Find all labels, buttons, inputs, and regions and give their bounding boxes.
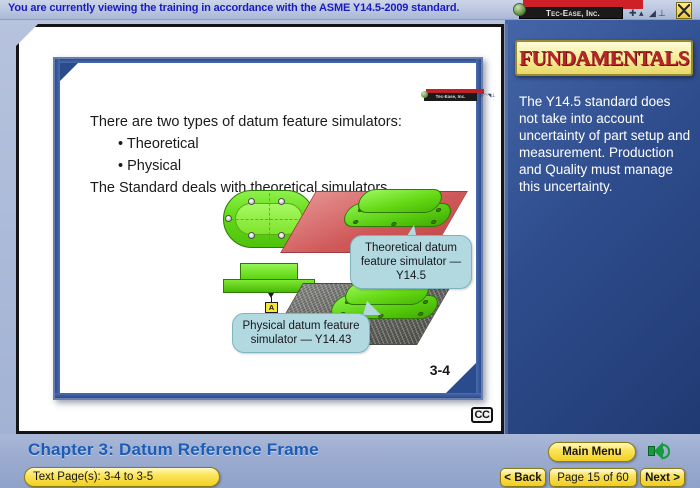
fundamentals-banner: FUNDAMENTALS (515, 40, 693, 76)
slide-corner-top-left (60, 63, 78, 81)
gdt-perpendicularity-icon: ⊥ (658, 8, 666, 19)
slide-logo-gdt-icons: ⊕◠◥⊥ (479, 93, 496, 99)
bolt-hole (278, 198, 285, 205)
slide-bullet-physical: • Physical (118, 155, 440, 177)
tec-ease-logo: Tec-Ease, Inc. ✚ ▴ ◢ ⊥ (513, 0, 660, 20)
right-info-panel: FUNDAMENTALS The Y14.5 standard does not… (505, 20, 700, 434)
slide-canvas: Tec-Ease, Inc. ⊕◠◥⊥ There are two types … (60, 63, 476, 393)
close-window-button[interactable] (676, 2, 692, 19)
slide-tec-ease-logo: Tec-Ease, Inc. ⊕◠◥⊥ (421, 89, 495, 104)
theoretical-green-part (345, 189, 450, 229)
next-button[interactable]: Next > (640, 468, 685, 487)
text-pages-label: Text Page(s): 3-4 to 3-5 (24, 467, 220, 487)
datum-simulator-diagram: A (60, 183, 490, 398)
gdt-position-icon: ✚ (629, 8, 637, 19)
fundamentals-title: FUNDAMENTALS (517, 42, 691, 74)
application-window: You are currently viewing the training i… (0, 0, 700, 488)
bolt-hole (435, 208, 441, 212)
gdt-angularity-icon: ◢ (649, 8, 656, 19)
logo-sphere-icon (513, 3, 526, 16)
page-indicator[interactable]: Page 15 of 60 (549, 468, 637, 487)
standard-notice-text: You are currently viewing the training i… (8, 2, 459, 14)
audio-speaker-icon[interactable] (648, 442, 670, 462)
closed-captions-button[interactable]: CC (471, 407, 493, 423)
bolt-hole (248, 232, 255, 239)
callout-theoretical-simulator: Theoretical datum feature simulator — Y1… (350, 235, 472, 289)
bolt-hole (278, 232, 285, 239)
centerline-vertical (269, 193, 270, 245)
bolt-hole (248, 198, 255, 205)
callout-physical-simulator: Physical datum feature simulator — Y14.4… (232, 313, 370, 353)
green-part-boss (354, 189, 446, 213)
bolt-hole (391, 222, 397, 226)
chapter-title: Chapter 3: Datum Reference Frame (28, 440, 319, 460)
speaker-wave-outer (663, 444, 670, 459)
part-side-boss (240, 263, 298, 280)
datum-feature-symbol-a: A (265, 302, 278, 313)
bolt-hole (353, 220, 359, 224)
bolt-hole (422, 300, 428, 304)
bolt-hole (431, 220, 437, 224)
slide-page-number: 3-4 (430, 362, 450, 378)
slide-logo-sphere-icon (421, 91, 428, 98)
main-menu-button[interactable]: Main Menu (548, 442, 636, 462)
callout-tail-physical (363, 301, 381, 315)
presentation-slide: Tec-Ease, Inc. ⊕◠◥⊥ There are two types … (53, 57, 483, 400)
back-button[interactable]: < Back (500, 468, 546, 487)
content-page-frame: Tec-Ease, Inc. ⊕◠◥⊥ There are two types … (16, 24, 504, 434)
logo-brand-name: Tec-Ease, Inc. (521, 8, 625, 19)
top-banner: You are currently viewing the training i… (0, 0, 700, 20)
gdt-profile-icon: ▴ (639, 8, 644, 19)
slide-bullet-theoretical: • Theoretical (118, 133, 440, 155)
bolt-hole (418, 312, 424, 316)
slide-logo-name: Tec-Ease, Inc. (424, 93, 477, 101)
slide-heading: There are two types of datum feature sim… (90, 111, 440, 133)
bolt-hole (225, 215, 232, 222)
panel-body-text: The Y14.5 standard does not take into ac… (519, 93, 691, 195)
